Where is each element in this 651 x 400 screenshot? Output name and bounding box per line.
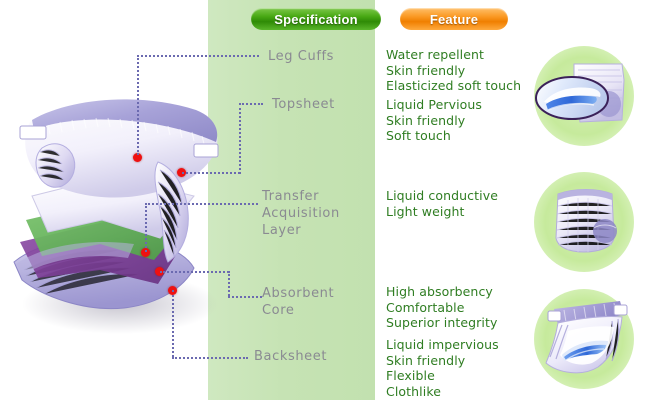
leader-absorbent-vertical	[228, 271, 230, 296]
features-leg-cuffs: Water repellent Skin friendly Elasticize…	[386, 47, 521, 94]
leader-leg-cuffs-vertical	[137, 55, 139, 155]
specification-button[interactable]: Specification	[251, 8, 381, 30]
leader-absorbent-horizontal-1	[160, 271, 229, 273]
open-taped-diaper-image	[528, 283, 640, 395]
leader-topsheet-horizontal-1	[182, 172, 240, 174]
leader-transfer-vertical	[145, 203, 147, 252]
callout-absorbent-core: Absorbent Core	[262, 285, 334, 319]
callout-topsheet: Topsheet	[272, 96, 335, 113]
specification-button-label: Specification	[274, 12, 358, 27]
feature-button-label: Feature	[430, 12, 478, 27]
features-absorbent-core: High absorbency Comfortable Superior int…	[386, 284, 498, 331]
product-spec-infographic: Specification Feature	[0, 0, 651, 400]
thumbnail-open-diaper[interactable]	[528, 283, 640, 395]
leader-backsheet-horizontal	[172, 357, 248, 359]
feature-button[interactable]: Feature	[400, 8, 508, 30]
callout-transfer-acquisition-layer: Transfer Acquisition Layer	[262, 188, 340, 239]
leader-backsheet-vertical	[172, 290, 174, 357]
leader-leg-cuffs-horizontal	[137, 55, 259, 57]
pull-up-pant-image	[528, 166, 640, 278]
features-topsheet: Liquid Pervious Skin friendly Soft touch	[386, 97, 482, 144]
thumbnail-topsheet-detail[interactable]	[528, 40, 640, 152]
features-backsheet: Liquid impervious Skin friendly Flexible…	[386, 337, 499, 399]
leader-absorbent-horizontal-2	[228, 296, 262, 298]
leader-transfer-horizontal	[145, 203, 258, 205]
leader-topsheet-vertical	[239, 103, 241, 174]
features-transfer-layer: Liquid conductive Light weight	[386, 188, 498, 219]
exploded-diaper-diagram	[8, 92, 248, 352]
diaper-core-closeup-image	[528, 40, 640, 152]
callout-backsheet: Backsheet	[254, 348, 327, 365]
callout-leg-cuffs: Leg Cuffs	[268, 48, 334, 65]
thumbnail-pull-up-pant[interactable]	[528, 166, 640, 278]
leader-topsheet-horizontal-2	[239, 103, 263, 105]
diaper-illustration	[8, 92, 248, 352]
